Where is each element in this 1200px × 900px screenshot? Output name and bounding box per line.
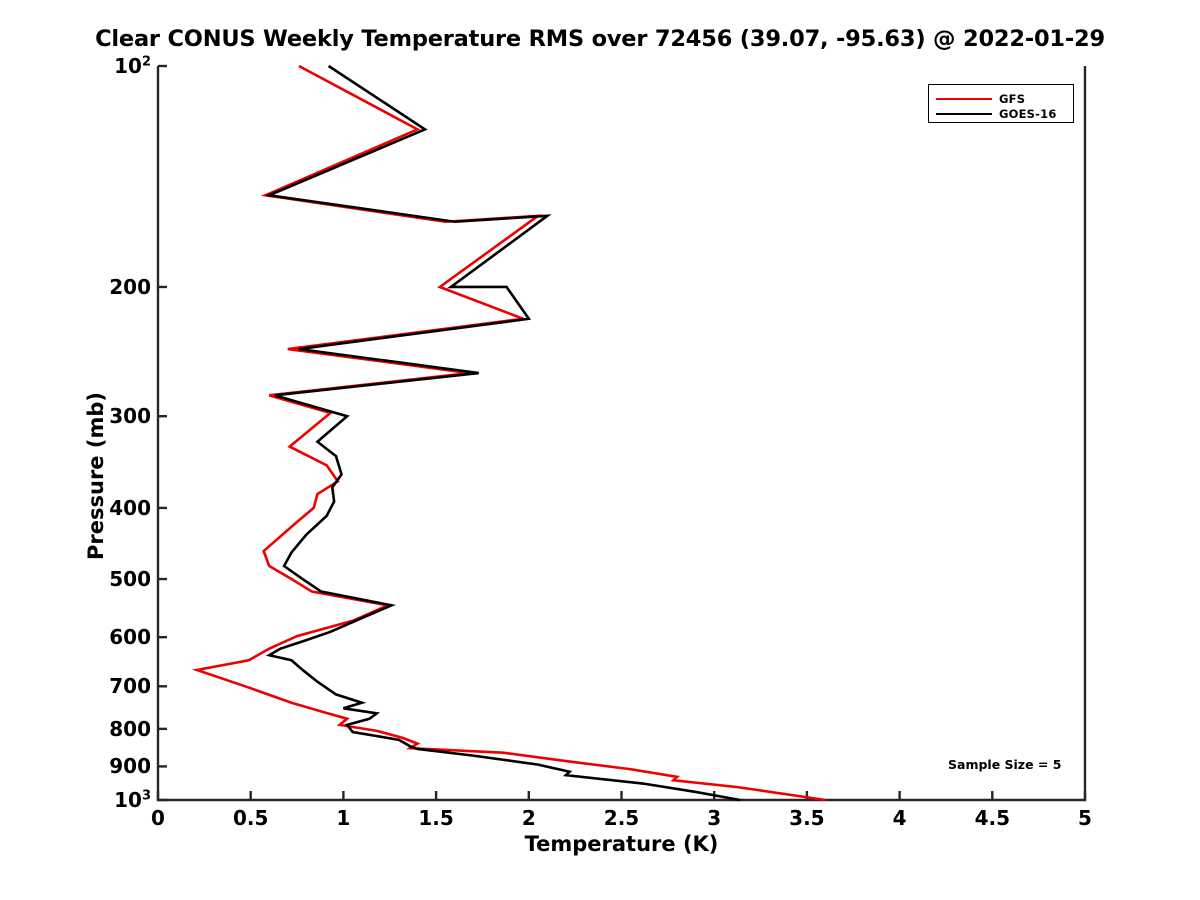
series-line-goes-16 [269,66,740,800]
axis-frame [158,66,1085,800]
legend: GFSGOES-16 [928,84,1074,123]
legend-swatch-gfs [936,98,992,100]
sample-size-annotation: Sample Size = 5 [948,757,1061,772]
figure-canvas: Clear CONUS Weekly Temperature RMS over … [0,0,1200,900]
legend-item-goes-16: GOES-16 [929,104,1073,123]
legend-label: GOES-16 [999,107,1057,121]
series-line-gfs [197,66,826,800]
legend-swatch-goes-16 [936,113,992,115]
